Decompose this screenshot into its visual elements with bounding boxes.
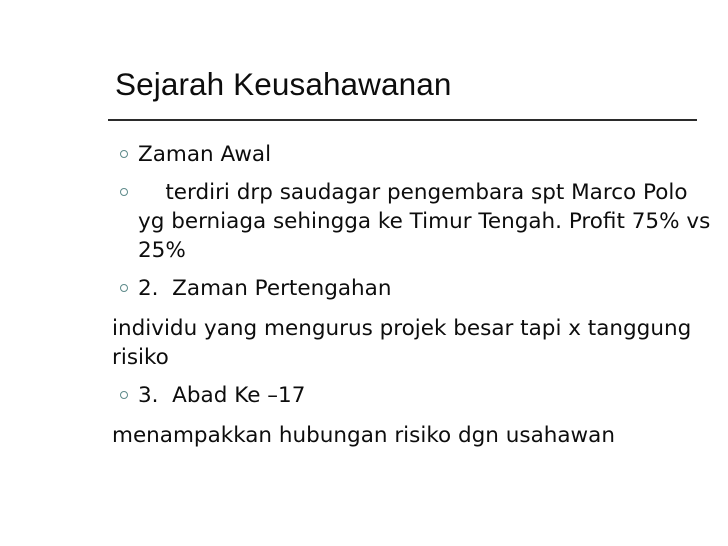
list-item-continuation: menampakkan hubungan risiko dgn usahawan [112, 421, 712, 450]
ring-bullet-icon [120, 284, 128, 292]
list-item-label: terdiri drp saudagar pengembara spt Marc… [138, 178, 712, 265]
list-item: Zaman Awal [112, 140, 712, 169]
bullet-list: Zaman Awal terdiri drp saudagar pengemba… [112, 140, 712, 450]
list-item: terdiri drp saudagar pengembara spt Marc… [112, 178, 712, 265]
title-divider [108, 119, 697, 121]
slide-canvas: Sejarah Keusahawanan Zaman Awal terdiri … [0, 0, 728, 546]
page-title: Sejarah Keusahawanan [115, 66, 705, 103]
list-item-label: 2. Zaman Pertengahan [138, 274, 712, 303]
list-item-label: 3. Abad Ke –17 [138, 381, 712, 410]
list-item: 2. Zaman Pertengahan [112, 274, 712, 303]
ring-bullet-icon [120, 391, 128, 399]
ring-bullet-icon [120, 150, 128, 158]
ring-bullet-icon [120, 188, 128, 196]
list-item-continuation: individu yang mengurus projek besar tapi… [112, 314, 712, 372]
list-item: 3. Abad Ke –17 [112, 381, 712, 410]
list-item-label: Zaman Awal [138, 140, 712, 169]
